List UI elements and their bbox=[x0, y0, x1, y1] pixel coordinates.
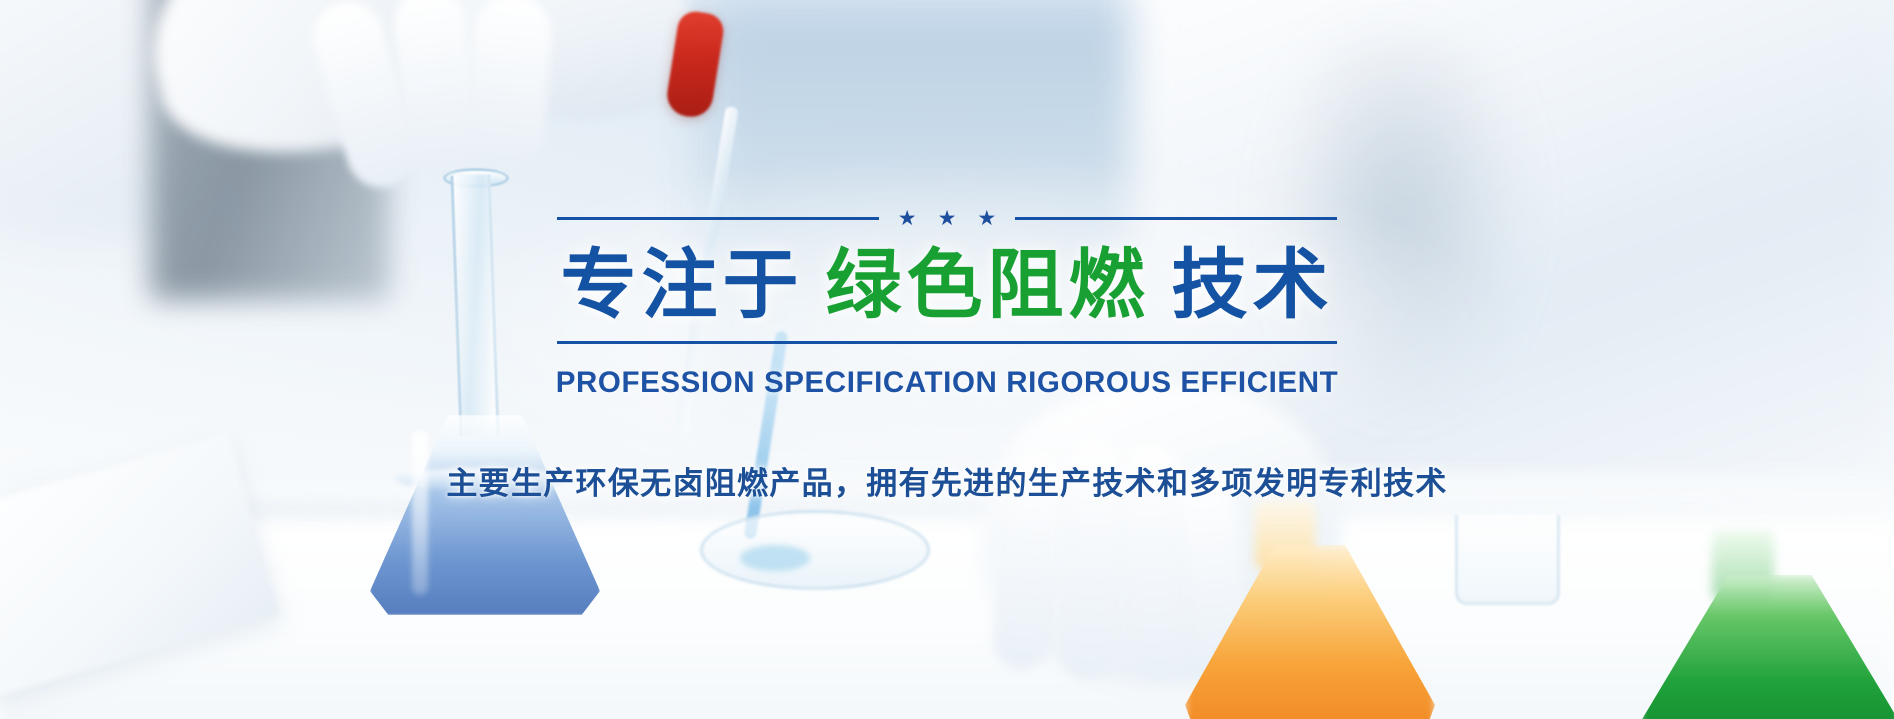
star-group: ★ ★ ★ bbox=[879, 208, 1015, 229]
star-icon: ★ bbox=[898, 208, 917, 229]
banner-headline: 专注于绿色阻燃技术 bbox=[561, 245, 1334, 327]
banner-subtitle: PROFESSION SPECIFICATION RIGOROUS EFFICI… bbox=[556, 366, 1338, 400]
headline-part-2: 绿色阻燃 bbox=[826, 243, 1150, 328]
banner-description: 主要生产环保无卤阻燃产品，拥有先进的生产技术和多项发明专利技术 bbox=[446, 458, 1447, 503]
divider-rule-left bbox=[557, 217, 879, 220]
star-icon: ★ bbox=[938, 208, 957, 229]
headline-part-3: 技术 bbox=[1172, 243, 1334, 328]
divider-with-stars: ★ ★ ★ bbox=[557, 208, 1337, 229]
star-icon: ★ bbox=[977, 208, 996, 229]
divider-rule-bottom bbox=[557, 341, 1337, 344]
banner-content: ★ ★ ★ 专注于绿色阻燃技术 PROFESSION SPECIFICATION… bbox=[0, 0, 1894, 719]
hero-banner: ★ ★ ★ 专注于绿色阻燃技术 PROFESSION SPECIFICATION… bbox=[0, 0, 1894, 719]
headline-part-1: 专注于 bbox=[561, 243, 804, 328]
divider-rule-right bbox=[1015, 217, 1337, 220]
